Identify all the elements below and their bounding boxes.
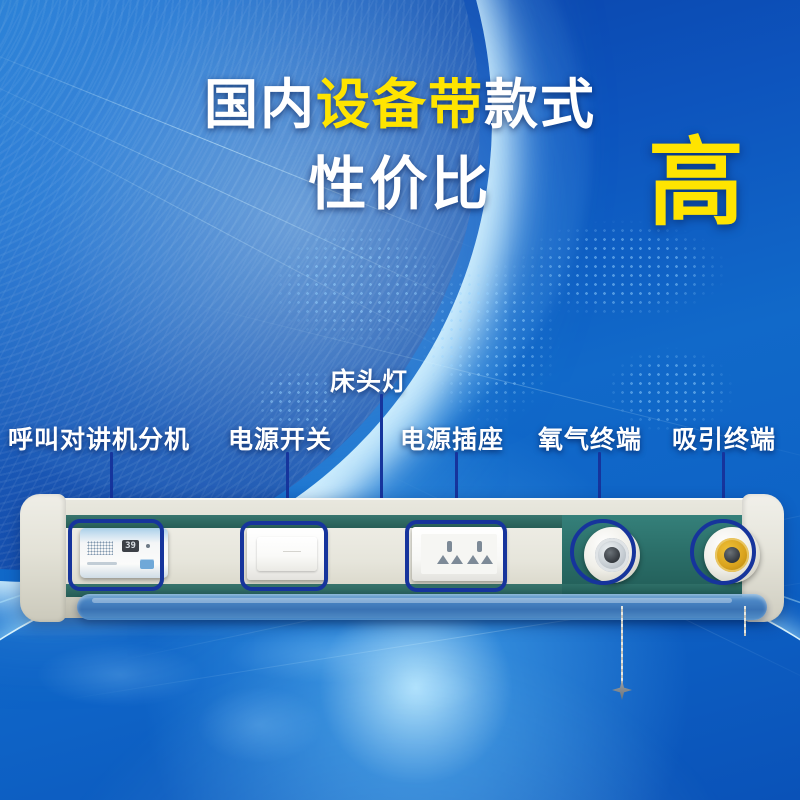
- callout-label-suction: 吸引终端: [672, 420, 776, 456]
- callout-label-power-switch: 电源开关: [228, 420, 332, 456]
- highlight-box-power-switch: [240, 521, 328, 591]
- callout-label-power-socket: 电源插座: [400, 420, 504, 456]
- pull-cord-suction[interactable]: [744, 606, 746, 636]
- headline-run: 款式: [484, 75, 596, 135]
- unit-rail-highlight: [92, 598, 732, 603]
- headline-line-1: 国内设备带款式: [0, 78, 800, 132]
- headline-accent-char: 高: [648, 136, 744, 232]
- callout-label-bed-lamp: 床头灯: [330, 362, 408, 398]
- callout-label-intercom: 呼叫对讲机分机: [8, 420, 190, 456]
- callout-label-oxygen: 氧气终端: [538, 420, 642, 456]
- highlight-circle-oxygen: [570, 519, 636, 585]
- headline-run: 国内: [204, 75, 316, 135]
- pull-cord-oxygen[interactable]: [621, 606, 623, 684]
- unit-end-cap-left: [20, 494, 66, 622]
- highlight-box-intercom: [68, 519, 164, 591]
- promo-banner: 国内设备带款式 性价比 高 呼叫对讲机分机 电源开关 床头灯 电源插座 氧气终端…: [0, 0, 800, 800]
- highlight-box-power-socket: [405, 520, 507, 592]
- highlight-circle-suction: [690, 519, 756, 585]
- headline-run: 设备带: [316, 75, 484, 135]
